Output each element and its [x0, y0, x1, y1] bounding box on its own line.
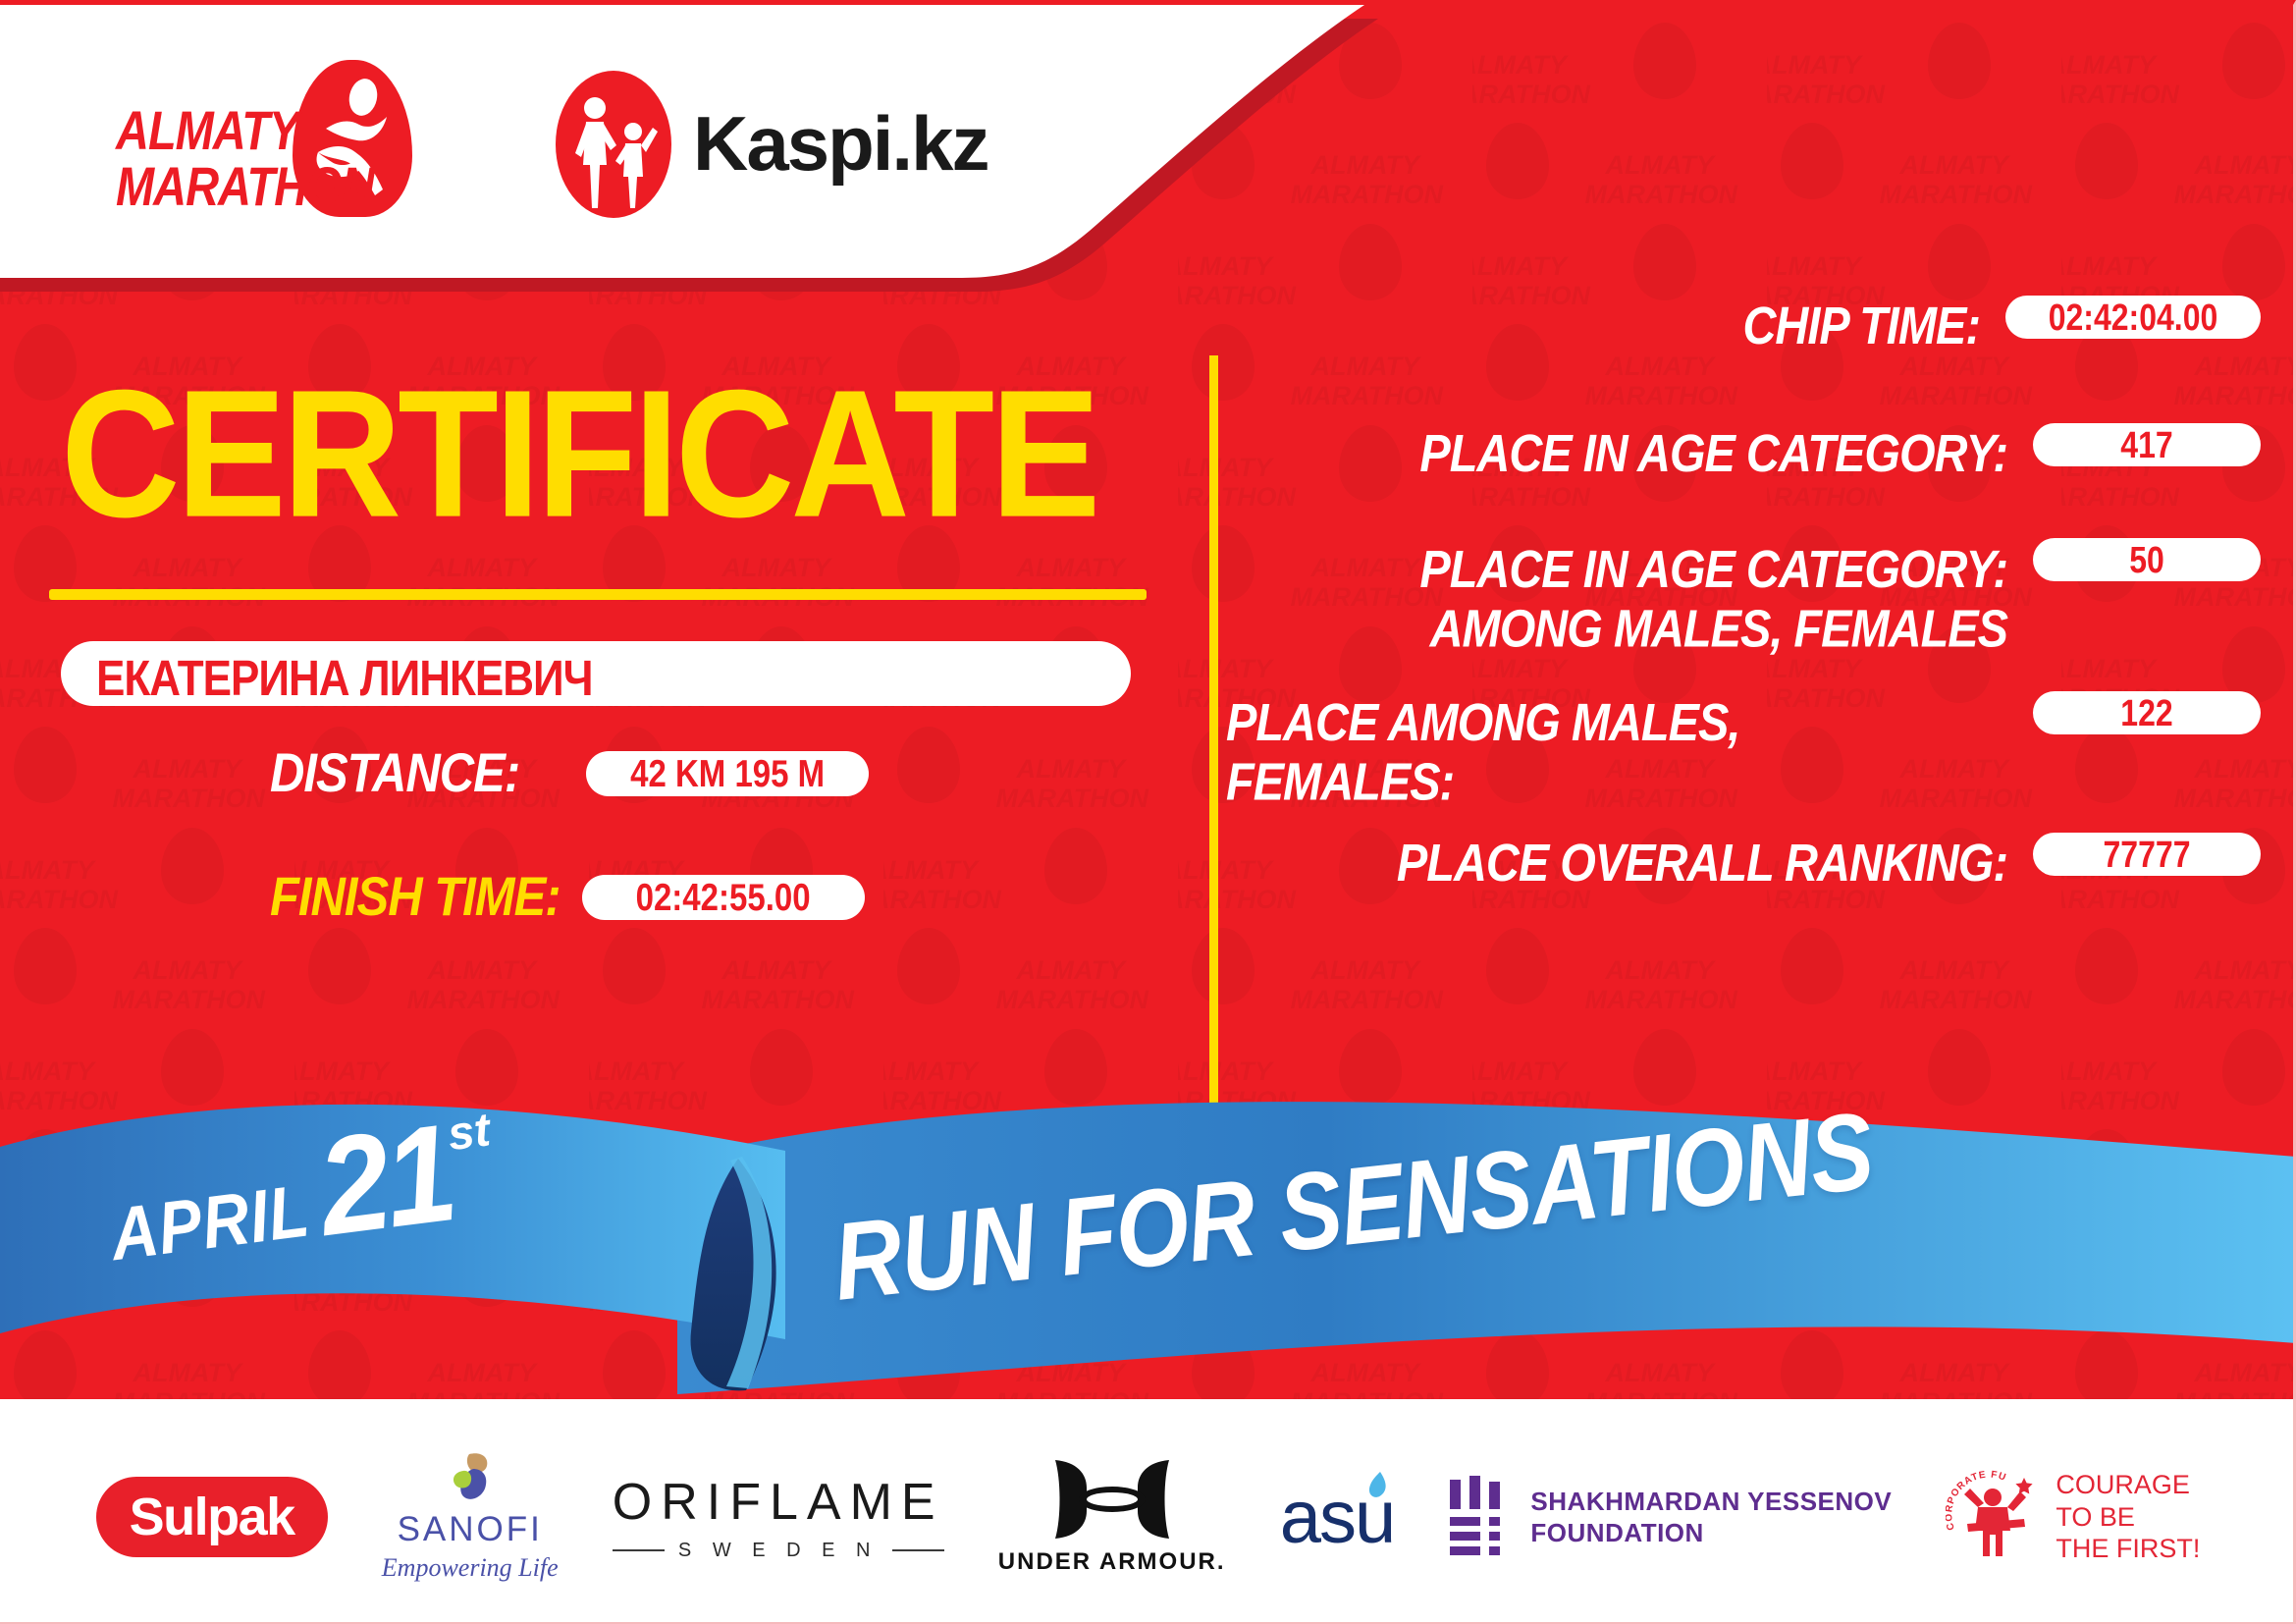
kaspi-wordmark: Kaspi.kz	[693, 99, 988, 189]
finish-time-label: FINISH TIME:	[270, 866, 561, 929]
almaty-marathon-logo: ALMATY MARATHON	[116, 56, 430, 233]
place-among-value-pill: 122	[2033, 691, 2261, 734]
courage-line-2: TO BE	[2056, 1501, 2200, 1534]
sponsor-strip: Sulpak SANOFI Empowering Life ORIFLAME S…	[0, 1409, 2296, 1624]
yessenov-line-1: SHAKHMARDAN YESSENOV	[1530, 1486, 1892, 1518]
place-age-category-among-label-line2: AMONG MALES, FEMALES	[1226, 599, 2007, 658]
sponsor-courage-to-be-the-first: CORPORATE FUND COURAGE TO BE THE FIRST!	[1946, 1469, 2200, 1566]
place-age-category-among-label-line1: PLACE IN AGE CATEGORY:	[1226, 540, 2007, 599]
chip-time-value-pill: 02:42:04.00	[2005, 296, 2261, 339]
kaspi-figures-icon	[556, 71, 671, 218]
brand-bar: ALMATY MARATHON Kaspi.kz	[0, 5, 1178, 283]
page-title: CERTIFICATE	[61, 363, 1162, 545]
sponsor-yessenov-foundation: SHAKHMARDAN YESSENOV FOUNDATION	[1448, 1476, 1892, 1558]
almaty-line-2: MARATHON	[116, 158, 379, 214]
chip-time-value: 02:42:04.00	[2049, 296, 2218, 339]
place-overall-label: PLACE OVERALL RANKING:	[1218, 833, 2007, 891]
sulpak-wordmark: Sulpak	[130, 1487, 294, 1547]
result-row-place-overall-ranking: PLACE OVERALL RANKING: 77777	[1218, 833, 2261, 884]
place-overall-value-pill: 77777	[2033, 833, 2261, 876]
sponsor-under-armour: UNDER ARMOUR.	[998, 1458, 1226, 1576]
result-row-place-age-category: PLACE IN AGE CATEGORY: 417	[1218, 423, 2261, 474]
sanofi-tagline: Empowering Life	[382, 1553, 559, 1583]
yessenov-bars-icon	[1448, 1476, 1509, 1558]
sponsor-sanofi: SANOFI Empowering Life	[382, 1451, 559, 1583]
place-overall-value: 77777	[2104, 833, 2191, 876]
oriflame-wordmark: ORIFLAME	[613, 1473, 944, 1532]
almaty-marathon-wordmark: ALMATY MARATHON	[116, 103, 379, 214]
oriflame-subline: S W E D E N	[613, 1540, 944, 1562]
place-among-label-line2: FEMALES:	[1226, 752, 2007, 811]
courage-wordmark: COURAGE TO BE THE FIRST!	[2056, 1469, 2200, 1566]
participant-name: ЕКАТЕРИНА ЛИНКЕВИЧ	[96, 651, 593, 708]
asu-droplet-icon	[1364, 1471, 1390, 1500]
place-age-category-among-value: 50	[2129, 538, 2164, 581]
distance-value-pill: 42 KM 195 M	[586, 751, 869, 796]
result-row-chip-time: CHIP TIME: 02:42:04.00	[1218, 296, 2261, 347]
event-day: 21	[312, 1110, 458, 1251]
oriflame-rule-left	[613, 1549, 665, 1551]
yessenov-line-2: FOUNDATION	[1530, 1517, 1892, 1549]
distance-label: DISTANCE:	[270, 742, 519, 805]
place-age-category-value: 417	[2120, 423, 2172, 466]
place-age-category-among-value-pill: 50	[2033, 538, 2261, 581]
oriflame-rule-right	[892, 1549, 944, 1551]
sponsor-oriflame: ORIFLAME S W E D E N	[613, 1473, 944, 1562]
sanofi-bird-icon	[444, 1451, 497, 1504]
place-age-category-value-pill: 417	[2033, 423, 2261, 466]
sponsor-sulpak: Sulpak	[96, 1477, 328, 1557]
under-armour-wordmark: UNDER ARMOUR.	[998, 1548, 1226, 1576]
distance-value: 42 KM 195 M	[630, 752, 825, 796]
distance-row: DISTANCE: 42 KM 195 M	[270, 746, 869, 801]
place-among-value: 122	[2120, 691, 2172, 734]
place-age-category-among-label: PLACE IN AGE CATEGORY: AMONG MALES, FEMA…	[1218, 538, 2007, 658]
result-row-place-age-category-among: PLACE IN AGE CATEGORY: AMONG MALES, FEMA…	[1218, 538, 2261, 643]
certificate-page: ALMATY MARATHON Kaspi.kz	[0, 0, 2296, 1624]
sanofi-wordmark: SANOFI	[398, 1510, 543, 1549]
vertical-divider-upper	[1209, 355, 1218, 738]
courage-line-1: COURAGE	[2056, 1469, 2200, 1501]
courage-runner-icon: CORPORATE FUND	[1946, 1470, 2040, 1564]
chip-time-label: CHIP TIME:	[1218, 296, 1980, 353]
under-armour-icon	[1047, 1458, 1177, 1541]
kaspi-logo: Kaspi.kz	[556, 71, 988, 218]
place-among-label-line1: PLACE AMONG MALES,	[1226, 693, 2007, 752]
vertical-divider-lower	[1209, 738, 1218, 1121]
sponsor-asu: asu	[1280, 1475, 1395, 1560]
blue-ribbon-banner: APRIL 21 st RUN FOR SENSATIONS	[0, 1100, 2296, 1424]
finish-time-value-pill: 02:42:55.00	[582, 875, 865, 920]
courage-line-3: THE FIRST!	[2056, 1533, 2200, 1565]
yessenov-wordmark: SHAKHMARDAN YESSENOV FOUNDATION	[1530, 1486, 1892, 1549]
place-age-category-label: PLACE IN AGE CATEGORY:	[1218, 423, 2007, 481]
kaspi-person-icon	[556, 71, 671, 218]
title-underline-rule	[49, 589, 1147, 600]
event-day-suffix: st	[445, 1104, 493, 1163]
finish-time-row: FINISH TIME: 02:42:55.00	[270, 870, 865, 925]
oriflame-sweden-text: S W E D E N	[678, 1540, 879, 1562]
almaty-line-1: ALMATY	[116, 103, 379, 159]
result-row-place-among-males-females: PLACE AMONG MALES, FEMALES: 122	[1218, 691, 2261, 796]
place-among-label: PLACE AMONG MALES, FEMALES:	[1218, 691, 2007, 811]
finish-time-value: 02:42:55.00	[636, 876, 811, 920]
participant-name-field: ЕКАТЕРИНА ЛИНКЕВИЧ	[61, 641, 1131, 706]
